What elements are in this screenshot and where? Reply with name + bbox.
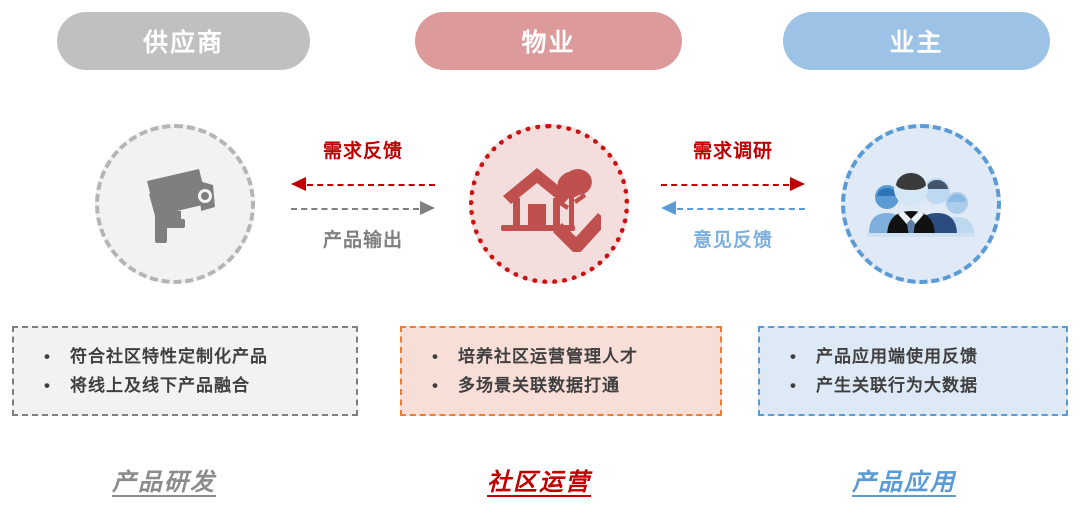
arrow-line — [307, 184, 435, 186]
flow-arrows-right: 需求调研 意见反馈 — [658, 142, 808, 250]
arrow-line — [677, 208, 805, 210]
flow-right-top-arrow — [661, 175, 805, 193]
caption-property: 社区运营 — [487, 462, 591, 497]
list-item-label: 符合社区特性定制化产品 — [70, 348, 268, 365]
arrow-head-right-icon — [420, 201, 435, 215]
caption-supplier: 产品研发 — [112, 462, 216, 497]
flow-left-top-arrow — [291, 175, 435, 193]
bullet-icon: • — [44, 348, 70, 365]
list-item-label: 将线上及线下产品融合 — [70, 377, 250, 394]
list-item: • 将线上及线下产品融合 — [44, 371, 342, 400]
arrow-line — [291, 208, 419, 210]
header-pill-property-label: 物业 — [521, 23, 575, 59]
list-item-label: 产生关联行为大数据 — [816, 377, 978, 394]
bullet-box-supplier: • 符合社区特性定制化产品 • 将线上及线下产品融合 — [12, 326, 358, 416]
bullet-icon: • — [44, 377, 70, 394]
list-item: • 产品应用端使用反馈 — [790, 342, 1052, 371]
list-item-label: 产品应用端使用反馈 — [816, 348, 978, 365]
header-pill-property: 物业 — [415, 12, 682, 70]
caption-owner: 产品应用 — [852, 462, 956, 497]
arrow-head-right-icon — [790, 177, 805, 191]
icon-circle-owner — [841, 124, 1001, 284]
arrow-head-left-icon — [661, 201, 676, 215]
list-item-label: 培养社区运营管理人才 — [458, 348, 638, 365]
list-item: • 产生关联行为大数据 — [790, 371, 1052, 400]
bullet-box-owner: • 产品应用端使用反馈 • 产生关联行为大数据 — [758, 326, 1068, 416]
arrow-head-left-icon — [291, 177, 306, 191]
flow-right-bottom-label: 意见反馈 — [693, 231, 773, 250]
header-pill-supplier: 供应商 — [57, 12, 310, 70]
flow-right-top-label: 需求调研 — [693, 142, 773, 161]
header-pill-owner: 业主 — [783, 12, 1050, 70]
list-item: • 多场景关联数据打通 — [432, 371, 706, 400]
house-tree-check-icon — [497, 156, 601, 252]
bullet-icon: • — [432, 377, 458, 394]
header-pill-supplier-label: 供应商 — [143, 23, 224, 59]
flow-right-bottom-arrow — [661, 199, 805, 217]
icon-circle-property — [469, 124, 629, 284]
bullet-icon: • — [790, 348, 816, 365]
header-pill-owner-label: 业主 — [889, 23, 943, 59]
bullet-icon: • — [432, 348, 458, 365]
arrow-line — [661, 184, 789, 186]
list-item: • 培养社区运营管理人才 — [432, 342, 706, 371]
flow-left-bottom-arrow — [291, 199, 435, 217]
list-item: • 符合社区特性定制化产品 — [44, 342, 342, 371]
bullet-box-property: • 培养社区运营管理人才 • 多场景关联数据打通 — [400, 326, 722, 416]
icon-circle-supplier — [95, 124, 255, 284]
security-camera-icon — [129, 161, 221, 247]
people-group-icon — [865, 161, 977, 247]
flow-left-bottom-label: 产品输出 — [323, 231, 403, 250]
flow-left-top-label: 需求反馈 — [323, 142, 403, 161]
flow-arrows-left: 需求反馈 产品输出 — [288, 142, 438, 250]
bullet-icon: • — [790, 377, 816, 394]
list-item-label: 多场景关联数据打通 — [458, 377, 620, 394]
